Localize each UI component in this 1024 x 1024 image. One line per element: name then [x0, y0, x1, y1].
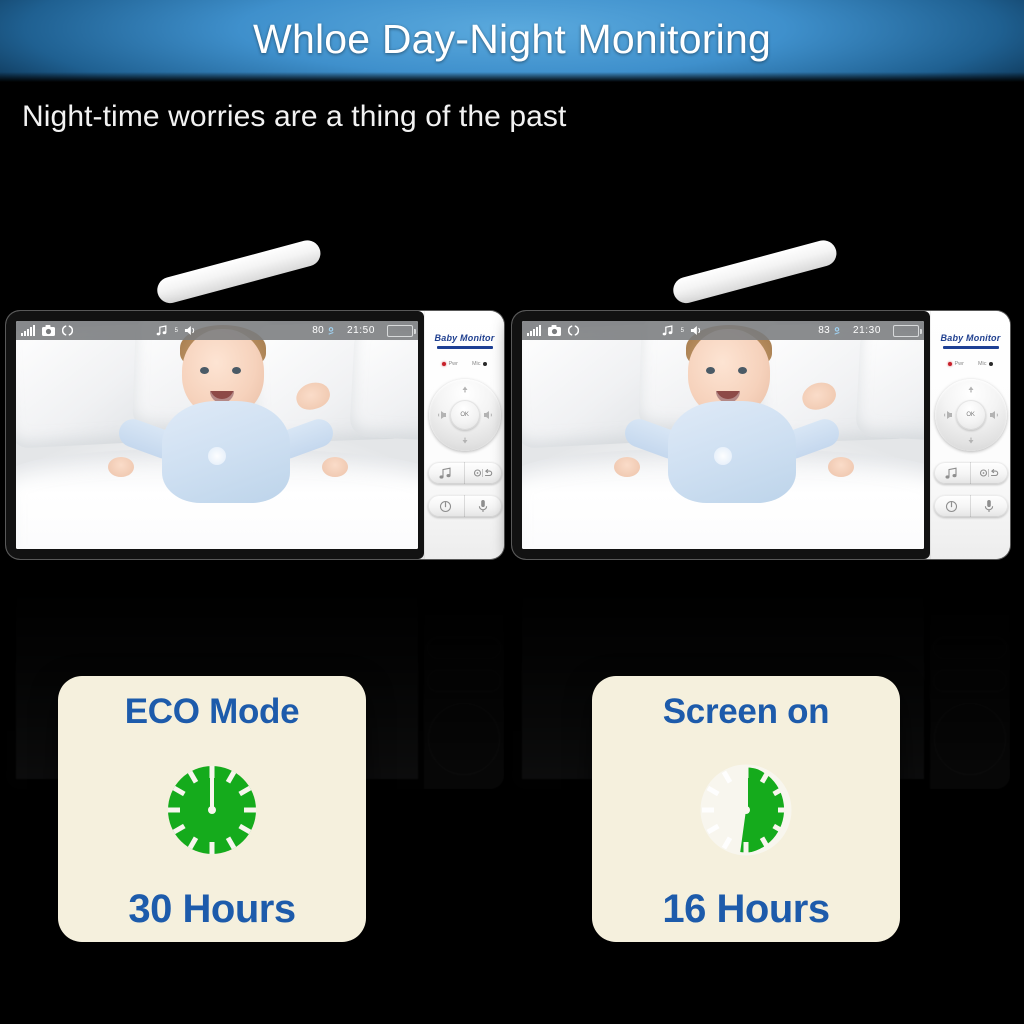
- settings-back-button[interactable]: [970, 462, 1008, 484]
- dpad-ok-button[interactable]: OK: [956, 400, 986, 430]
- led-power: Pwr: [948, 361, 964, 367]
- brand-label: Baby Monitor: [941, 333, 1001, 343]
- monitor-device: 5 83: [512, 311, 1010, 559]
- monitor-device: 5 80: [6, 311, 504, 559]
- power-led-icon: [948, 362, 952, 366]
- video-feed: [16, 321, 418, 549]
- temperature-reading: 83: [818, 325, 841, 336]
- video-feed: [522, 321, 924, 549]
- chevron-up-icon[interactable]: [460, 385, 469, 394]
- degree-icon: [833, 327, 841, 335]
- microphone-icon[interactable]: [464, 495, 502, 517]
- led-indicators: Pwr Mic: [442, 361, 487, 367]
- music-settings-button-row: [428, 462, 502, 484]
- brand-label: Baby Monitor: [435, 333, 495, 343]
- clock-icon: [156, 754, 268, 866]
- mic-led-icon: [483, 362, 487, 366]
- product-feature-image: Whloe Day-Night Monitoring Night-time wo…: [0, 0, 1024, 1024]
- subtitle-text: Night-time worries are a thing of the pa…: [22, 100, 566, 134]
- led-mic-label: Mic: [472, 361, 481, 367]
- led-indicators: Pwr Mic: [948, 361, 993, 367]
- led-power-label: Pwr: [954, 361, 963, 367]
- baby-subject: [630, 329, 840, 519]
- degree-icon: [327, 327, 335, 335]
- antenna: [154, 237, 323, 306]
- music-settings-button-row: [934, 462, 1008, 484]
- dpad-control[interactable]: OK: [429, 379, 501, 451]
- led-power-label: Pwr: [448, 361, 457, 367]
- clock-time: 21:50: [347, 325, 375, 336]
- device-left: 5 80: [0, 225, 512, 585]
- battery-full-icon: [387, 325, 413, 337]
- power-button[interactable]: [428, 495, 465, 517]
- mic-led-icon: [989, 362, 993, 366]
- clock-time: 21:30: [853, 325, 881, 336]
- settings-back-button[interactable]: [464, 462, 502, 484]
- badge-value: 30 Hours: [128, 887, 295, 932]
- badge-eco-mode: ECO Mode: [58, 676, 366, 942]
- music-note-icon: [156, 325, 168, 336]
- chevron-down-icon[interactable]: [966, 436, 975, 445]
- dpad-control[interactable]: OK: [935, 379, 1007, 451]
- antenna: [670, 237, 839, 306]
- music-level-label: 5: [175, 328, 178, 334]
- camera-icon: [548, 325, 561, 336]
- screen-status-bar: 5 83: [522, 321, 924, 340]
- speaker-volume-icon: [691, 325, 704, 336]
- power-mic-button-row: [934, 495, 1008, 517]
- battery-full-icon: [893, 325, 919, 337]
- temperature-value: 83: [818, 325, 830, 336]
- badge-screen-on: Screen on: [592, 676, 900, 942]
- led-mic-label: Mic: [978, 361, 987, 367]
- power-led-icon: [442, 362, 446, 366]
- control-panel: Baby Monitor Pwr Mic: [424, 311, 504, 559]
- music-button[interactable]: [934, 462, 971, 484]
- camera-icon: [42, 325, 55, 336]
- volume-up-icon[interactable]: [990, 411, 1001, 419]
- monitor-screen[interactable]: 5 80: [16, 321, 418, 549]
- speaker-volume-icon: [185, 325, 198, 336]
- screen-bezel: 5 83: [512, 311, 930, 559]
- header-banner: Whloe Day-Night Monitoring: [0, 0, 1024, 82]
- volume-down-icon[interactable]: [435, 411, 446, 419]
- page-title: Whloe Day-Night Monitoring: [0, 16, 1024, 63]
- baby-subject: [124, 329, 334, 519]
- music-note-icon: [662, 325, 674, 336]
- led-power: Pwr: [442, 361, 458, 367]
- led-mic: Mic: [978, 361, 993, 367]
- signal-bars-icon: [527, 325, 541, 336]
- brand-underline: [437, 346, 493, 349]
- music-level-label: 5: [681, 328, 684, 334]
- volume-up-icon[interactable]: [484, 411, 495, 419]
- pair-link-icon: [62, 325, 73, 336]
- screen-bezel: 5 80: [6, 311, 424, 559]
- power-mic-button-row: [428, 495, 502, 517]
- temperature-value: 80: [312, 325, 324, 336]
- pair-link-icon: [568, 325, 579, 336]
- device-right: 5 83: [508, 225, 1020, 585]
- clock-icon: [690, 754, 802, 866]
- temperature-reading: 80: [312, 325, 335, 336]
- screen-status-bar: 5 80: [16, 321, 418, 340]
- chevron-up-icon[interactable]: [966, 385, 975, 394]
- chevron-down-icon[interactable]: [460, 436, 469, 445]
- microphone-icon[interactable]: [970, 495, 1008, 517]
- dpad-ok-button[interactable]: OK: [450, 400, 480, 430]
- brand-underline: [943, 346, 999, 349]
- badge-title: ECO Mode: [125, 692, 300, 732]
- badge-title: Screen on: [663, 692, 830, 732]
- power-button[interactable]: [934, 495, 971, 517]
- monitor-screen[interactable]: 5 83: [522, 321, 924, 549]
- badge-value: 16 Hours: [662, 887, 829, 932]
- led-mic: Mic: [472, 361, 487, 367]
- volume-down-icon[interactable]: [941, 411, 952, 419]
- control-panel: Baby Monitor Pwr Mic: [930, 311, 1010, 559]
- music-button[interactable]: [428, 462, 465, 484]
- signal-bars-icon: [21, 325, 35, 336]
